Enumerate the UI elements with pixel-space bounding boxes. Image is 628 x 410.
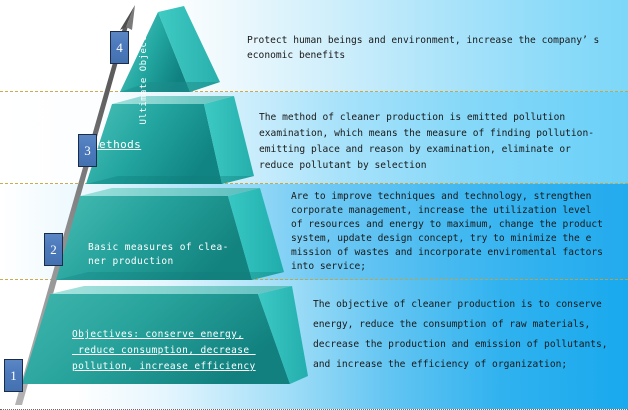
tier-label-objectives: Objectives: conserve energy, reduce cons…	[72, 327, 256, 375]
tier-label-basic-measures: Basic measures of clea- ner production	[88, 241, 229, 269]
description-level-1: The objective of cleaner production is t…	[313, 295, 623, 375]
tier-label-methods: Methods	[92, 138, 141, 152]
level-badge-1[interactable]: 1	[4, 359, 23, 392]
description-level-2: Are to improve techniques and technology…	[291, 190, 621, 274]
description-level-4: Protect human beings and environment, in…	[247, 33, 617, 63]
level-badge-3[interactable]: 3	[78, 134, 97, 167]
description-level-3: The method of cleaner production is emit…	[259, 110, 619, 174]
level-badge-2[interactable]: 2	[44, 233, 63, 266]
tier-label-ultimate-objective: Ultimate Objective	[139, 18, 150, 125]
pyramid-tier-4	[120, 6, 220, 92]
level-badge-4[interactable]: 4	[110, 31, 129, 64]
pyramid-diagram-canvas: Ultimate Objective Methods Basic measure…	[0, 0, 628, 410]
